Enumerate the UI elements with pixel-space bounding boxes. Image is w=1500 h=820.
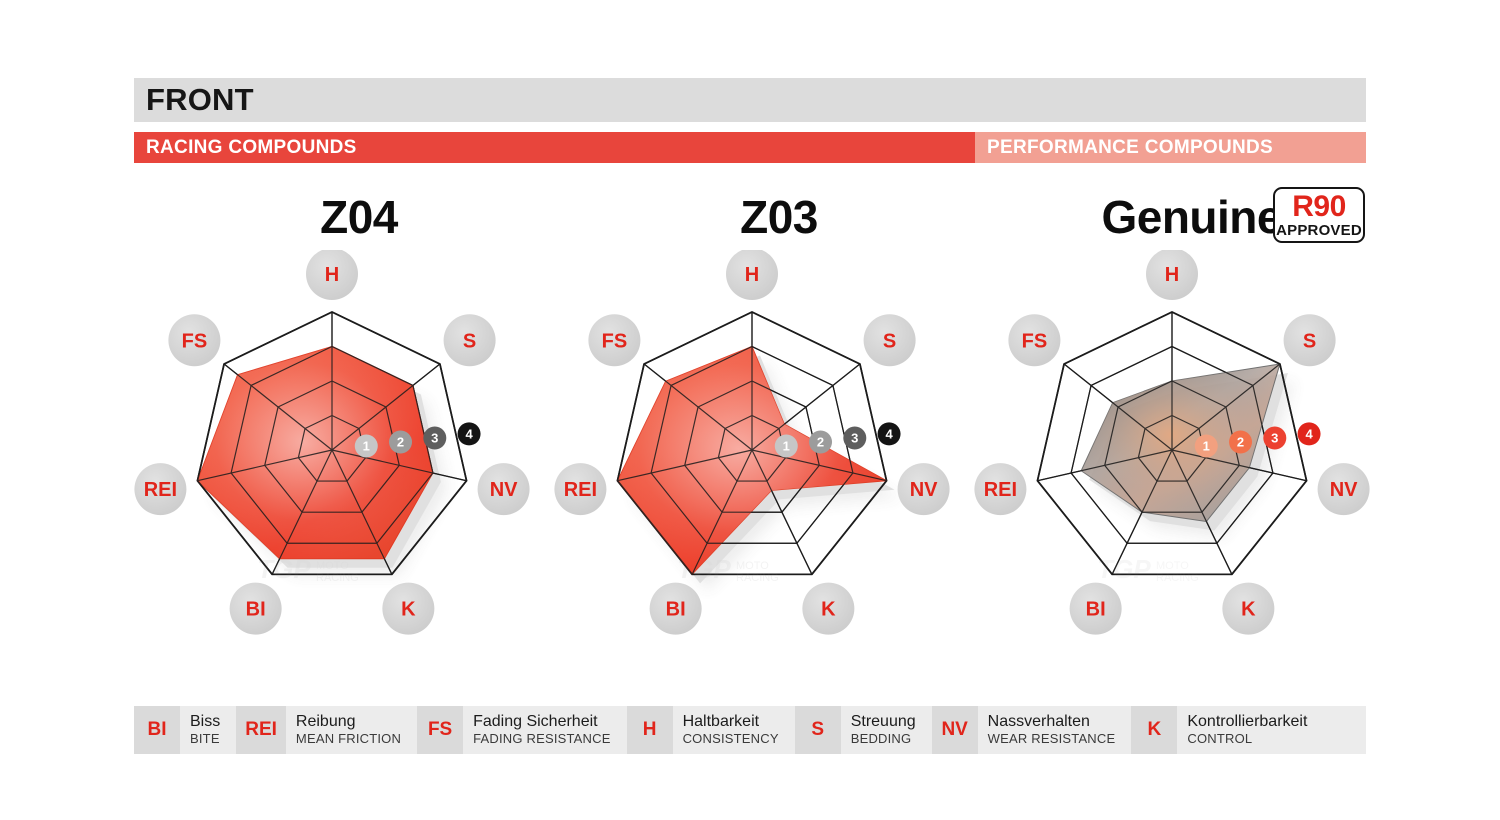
- infographic-root: FRONT RACING COMPOUNDS PERFORMANCE COMPO…: [0, 0, 1500, 820]
- ring-badge-2: 2: [809, 430, 832, 453]
- axis-label-fs: FS: [1008, 314, 1060, 366]
- axis-label-fs: FS: [588, 314, 640, 366]
- ring-badge-4: 4: [1298, 422, 1321, 445]
- legend-item-fs: FSFading SicherheitFADING RESISTANCE: [417, 706, 627, 754]
- legend-text-h: HaltbarkeitCONSISTENCY: [673, 706, 795, 754]
- svg-text:1: 1: [1203, 439, 1210, 454]
- axis-label-k: K: [802, 583, 854, 635]
- legend-term-de: Nassverhalten: [988, 713, 1116, 731]
- axis-label-nv: NV: [1318, 463, 1370, 515]
- radar-charts-container: TGPMOTORACING1234HSNVKBIREIFS TGPMOTORAC…: [0, 250, 1500, 670]
- svg-text:S: S: [463, 330, 476, 352]
- legend-term-en: BITE: [190, 731, 220, 747]
- r90-label: R90: [1292, 192, 1346, 222]
- legend-term-en: WEAR RESISTANCE: [988, 731, 1116, 747]
- axis-label-nv: NV: [898, 463, 950, 515]
- ring-badge-3: 3: [843, 426, 866, 449]
- svg-text:REI: REI: [984, 479, 1017, 501]
- legend-term-de: Haltbarkeit: [683, 713, 779, 731]
- section-title-bar: FRONT: [134, 78, 1366, 122]
- legend-item-bi: BIBissBITE: [134, 706, 236, 754]
- radar-svg: TGPMOTORACING1234HSNVKBIREIFS: [962, 250, 1382, 670]
- svg-text:4: 4: [1305, 427, 1313, 442]
- legend-abbr-s: S: [795, 706, 841, 754]
- legend-abbr-bi: BI: [134, 706, 180, 754]
- svg-text:BI: BI: [666, 599, 686, 621]
- svg-text:NV: NV: [1330, 479, 1358, 501]
- svg-text:3: 3: [1271, 431, 1278, 446]
- legend-term-de: Reibung: [296, 713, 401, 731]
- svg-text:K: K: [821, 599, 836, 621]
- legend-abbr-h: H: [627, 706, 673, 754]
- svg-text:S: S: [883, 330, 896, 352]
- chart-title-genuine: Genuine: [994, 186, 1294, 248]
- svg-text:TGP: TGP: [1097, 554, 1151, 584]
- legend-term-en: CONSISTENCY: [683, 731, 779, 747]
- svg-text:3: 3: [851, 431, 858, 446]
- svg-text:4: 4: [465, 427, 473, 442]
- axis-label-bi: BI: [1070, 583, 1122, 635]
- svg-text:MOTO: MOTO: [316, 560, 349, 572]
- ring-badge-2: 2: [1229, 430, 1252, 453]
- svg-text:FS: FS: [1022, 330, 1048, 352]
- legend-abbr-rei: REI: [236, 706, 286, 754]
- axis-label-k: K: [1222, 583, 1274, 635]
- legend-text-fs: Fading SicherheitFADING RESISTANCE: [463, 706, 627, 754]
- axis-label-h: H: [306, 250, 358, 300]
- racing-compounds-band: RACING COMPOUNDS: [134, 132, 975, 163]
- svg-text:BI: BI: [1086, 599, 1106, 621]
- svg-text:2: 2: [1237, 435, 1244, 450]
- legend-term-en: BEDDING: [851, 731, 916, 747]
- ring-badge-1: 1: [1195, 434, 1218, 457]
- legend-term-de: Kontrollierbarkeit: [1187, 713, 1307, 731]
- svg-text:2: 2: [397, 435, 404, 450]
- svg-text:NV: NV: [490, 479, 518, 501]
- axis-label-rei: REI: [974, 463, 1026, 515]
- svg-text:MOTO: MOTO: [1156, 560, 1189, 572]
- legend-item-nv: NVNassverhaltenWEAR RESISTANCE: [932, 706, 1132, 754]
- axis-label-k: K: [382, 583, 434, 635]
- radar-svg: TGPMOTORACING1234HSNVKBIREIFS: [122, 250, 542, 670]
- svg-text:NV: NV: [910, 479, 938, 501]
- legend-item-rei: REIReibungMEAN FRICTION: [236, 706, 417, 754]
- svg-text:BI: BI: [246, 599, 266, 621]
- ring-badge-1: 1: [775, 434, 798, 457]
- ring-badge-1: 1: [355, 434, 378, 457]
- legend-term-en: FADING RESISTANCE: [473, 731, 611, 747]
- axis-label-bi: BI: [650, 583, 702, 635]
- radar-chart-genuine: TGPMOTORACING1234HSNVKBIREIFS: [962, 250, 1382, 670]
- ring-badge-3: 3: [423, 426, 446, 449]
- page-title: FRONT: [134, 82, 254, 118]
- tgp-watermark: TGPMOTORACING: [1097, 554, 1199, 584]
- chart-title-z03: Z03: [614, 186, 944, 248]
- svg-text:H: H: [1165, 264, 1179, 286]
- legend-term-de: Streuung: [851, 713, 916, 731]
- chart-titles-row: Z04 Z03 Genuine R90 APPROVED: [134, 186, 1366, 248]
- legend-text-rei: ReibungMEAN FRICTION: [286, 706, 417, 754]
- axis-label-nv: NV: [478, 463, 530, 515]
- svg-text:1: 1: [363, 439, 370, 454]
- ring-badge-4: 4: [878, 422, 901, 445]
- legend-item-h: HHaltbarkeitCONSISTENCY: [627, 706, 795, 754]
- legend-abbr-fs: FS: [417, 706, 463, 754]
- racing-compounds-label: RACING COMPOUNDS: [134, 137, 357, 159]
- legend-text-bi: BissBITE: [180, 706, 236, 754]
- axis-label-h: H: [726, 250, 778, 300]
- performance-compounds-label: PERFORMANCE COMPOUNDS: [975, 137, 1273, 159]
- svg-text:S: S: [1303, 330, 1316, 352]
- svg-text:3: 3: [431, 431, 438, 446]
- svg-text:2: 2: [817, 435, 824, 450]
- compound-category-bar: RACING COMPOUNDS PERFORMANCE COMPOUNDS: [134, 132, 1366, 163]
- svg-text:REI: REI: [144, 479, 177, 501]
- ring-badge-2: 2: [389, 430, 412, 453]
- chart-title-z04: Z04: [194, 186, 524, 248]
- radar-chart-z04: TGPMOTORACING1234HSNVKBIREIFS: [122, 250, 542, 670]
- axis-label-rei: REI: [134, 463, 186, 515]
- radar-chart-z03: TGPMOTORACING1234HSNVKBIREIFS: [542, 250, 962, 670]
- legend-text-k: KontrollierbarkeitCONTROL: [1177, 706, 1323, 754]
- svg-text:4: 4: [885, 427, 893, 442]
- legend-item-s: SStreuungBEDDING: [795, 706, 932, 754]
- svg-text:1: 1: [783, 439, 790, 454]
- legend-term-de: Biss: [190, 713, 220, 731]
- legend-term-de: Fading Sicherheit: [473, 713, 611, 731]
- svg-text:K: K: [1241, 599, 1256, 621]
- radar-svg: TGPMOTORACING1234HSNVKBIREIFS: [542, 250, 962, 670]
- ring-value-badges: 1234: [775, 422, 901, 457]
- svg-text:MOTO: MOTO: [736, 560, 769, 572]
- legend-item-k: KKontrollierbarkeitCONTROL: [1131, 706, 1323, 754]
- svg-text:H: H: [325, 264, 339, 286]
- ring-badge-3: 3: [1263, 426, 1286, 449]
- axis-label-fs: FS: [168, 314, 220, 366]
- svg-text:H: H: [745, 264, 759, 286]
- svg-text:FS: FS: [182, 330, 208, 352]
- axis-label-s: S: [1284, 314, 1336, 366]
- legend-term-en: MEAN FRICTION: [296, 731, 401, 747]
- performance-compounds-band: PERFORMANCE COMPOUNDS: [975, 132, 1366, 163]
- legend-bar: BIBissBITEREIReibungMEAN FRICTIONFSFadin…: [134, 706, 1366, 754]
- legend-term-en: CONTROL: [1187, 731, 1307, 747]
- approved-label: APPROVED: [1276, 223, 1362, 238]
- legend-abbr-nv: NV: [932, 706, 978, 754]
- axis-label-rei: REI: [554, 463, 606, 515]
- axis-label-h: H: [1146, 250, 1198, 300]
- legend-text-nv: NassverhaltenWEAR RESISTANCE: [978, 706, 1132, 754]
- r90-approved-badge: R90 APPROVED: [1273, 187, 1365, 243]
- axis-label-s: S: [864, 314, 916, 366]
- svg-text:K: K: [401, 599, 416, 621]
- axis-label-bi: BI: [230, 583, 282, 635]
- svg-text:REI: REI: [564, 479, 597, 501]
- axis-label-s: S: [444, 314, 496, 366]
- svg-text:FS: FS: [602, 330, 628, 352]
- legend-abbr-k: K: [1131, 706, 1177, 754]
- ring-badge-4: 4: [458, 422, 481, 445]
- legend-text-s: StreuungBEDDING: [841, 706, 932, 754]
